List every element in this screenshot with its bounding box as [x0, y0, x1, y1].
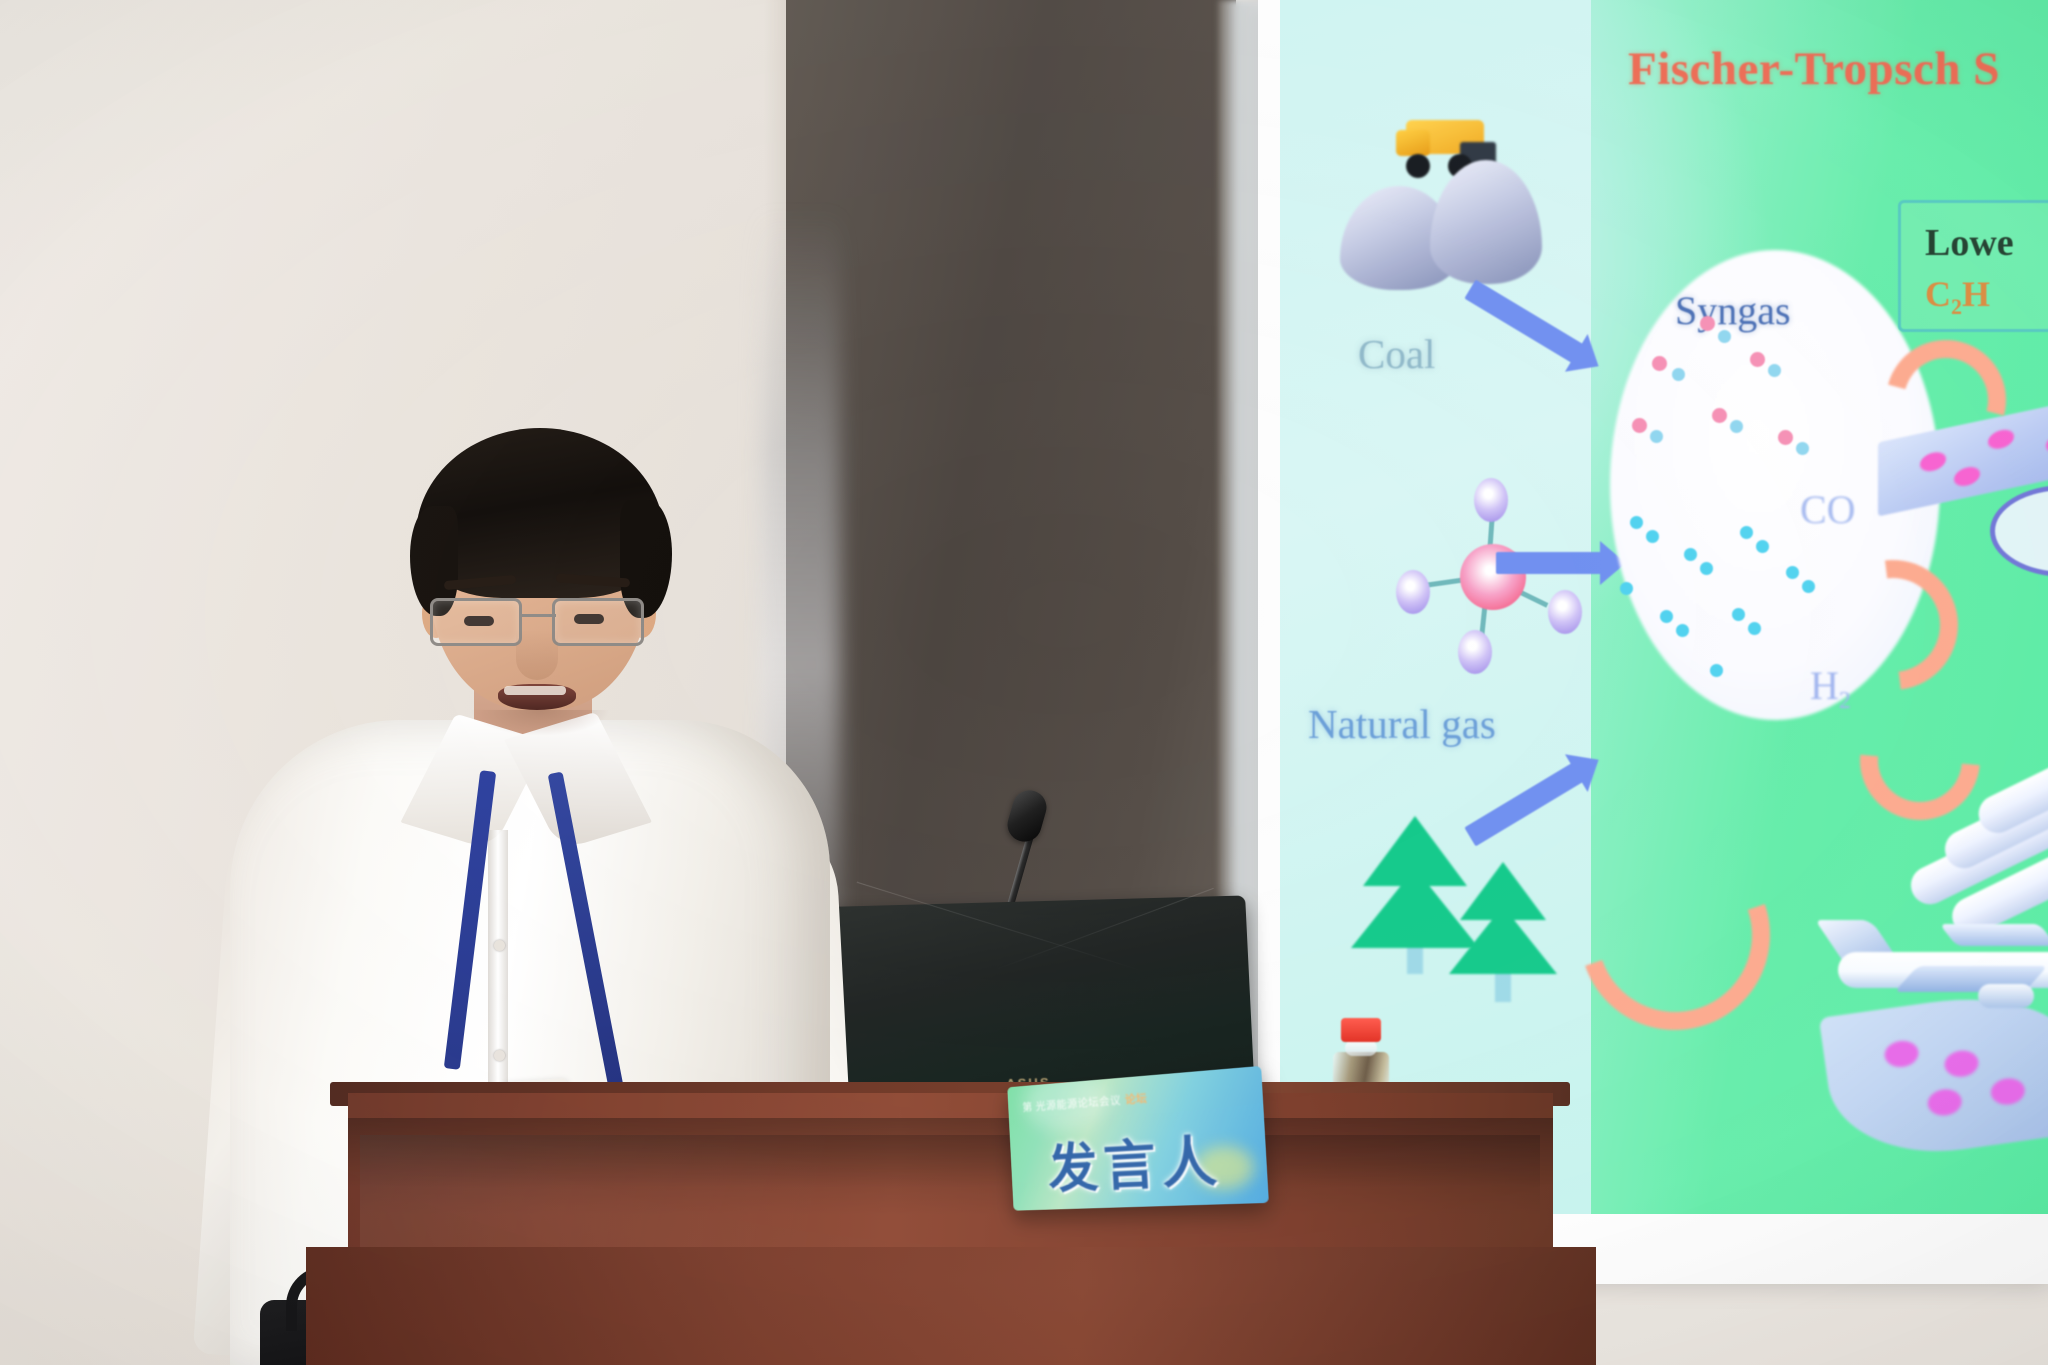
product-formula-sub: 2 — [1951, 294, 1962, 319]
h2-subscript: 2 — [1839, 688, 1851, 714]
shirt-button-2 — [494, 1050, 505, 1061]
airplane-icon — [1828, 906, 2048, 1026]
slide-label-natural-gas: Natural gas — [1308, 700, 1496, 748]
nameplate-event-mark: 论坛 — [1125, 1093, 1148, 1107]
nose — [516, 630, 558, 680]
eyeglass-lens-left — [430, 598, 522, 646]
teeth — [504, 686, 566, 695]
slide-label-syngas: Syngas — [1675, 287, 1791, 334]
speaker-nameplate: 第 光源能源论坛会议论坛 发言人 — [1007, 1066, 1269, 1211]
photo-scene: Fischer-Tropsch S Coal — [0, 0, 2048, 1365]
catalyst-label-pill: C cat — [1990, 485, 2048, 577]
bottle-cap — [1341, 1018, 1381, 1042]
coal-pile-icon — [1340, 160, 1570, 290]
slide-label-coal: Coal — [1358, 330, 1435, 378]
product-box-line2: C2H — [1925, 273, 1990, 320]
slide-label-co: CO — [1800, 486, 1856, 533]
podium-base — [306, 1247, 1596, 1365]
nameplate-event-label: 第 光源能源论坛会议 — [1022, 1095, 1121, 1114]
lower-olefins-box: Lowe C2H — [1898, 200, 2048, 332]
pine-tree-icon-2 — [1448, 840, 1558, 1010]
product-box-line1: Lowe — [1925, 221, 2014, 265]
eyeglass-lens-right — [552, 598, 644, 646]
bottle-neck — [1345, 1040, 1377, 1056]
arrow-gas-to-syngas — [1496, 552, 1606, 574]
product-formula-c: C — [1925, 274, 1951, 314]
chin-shadow — [470, 710, 610, 736]
methane-molecule-icon — [1392, 478, 1592, 678]
presentation-slide: Fischer-Tropsch S Coal — [1280, 0, 2048, 1214]
shirt-button-1 — [494, 940, 505, 951]
eyeglass-bridge — [522, 614, 556, 617]
nameplate-role-text: 发言人 — [1009, 1112, 1268, 1204]
slide-label-h2: H2 — [1810, 662, 1851, 715]
slide-title: Fischer-Tropsch S — [1628, 42, 2000, 96]
product-formula-h: H — [1962, 274, 1990, 314]
h2-symbol: H — [1810, 663, 1839, 708]
nameplate-event-text: 第 光源能源论坛会议论坛 — [1022, 1090, 1148, 1115]
